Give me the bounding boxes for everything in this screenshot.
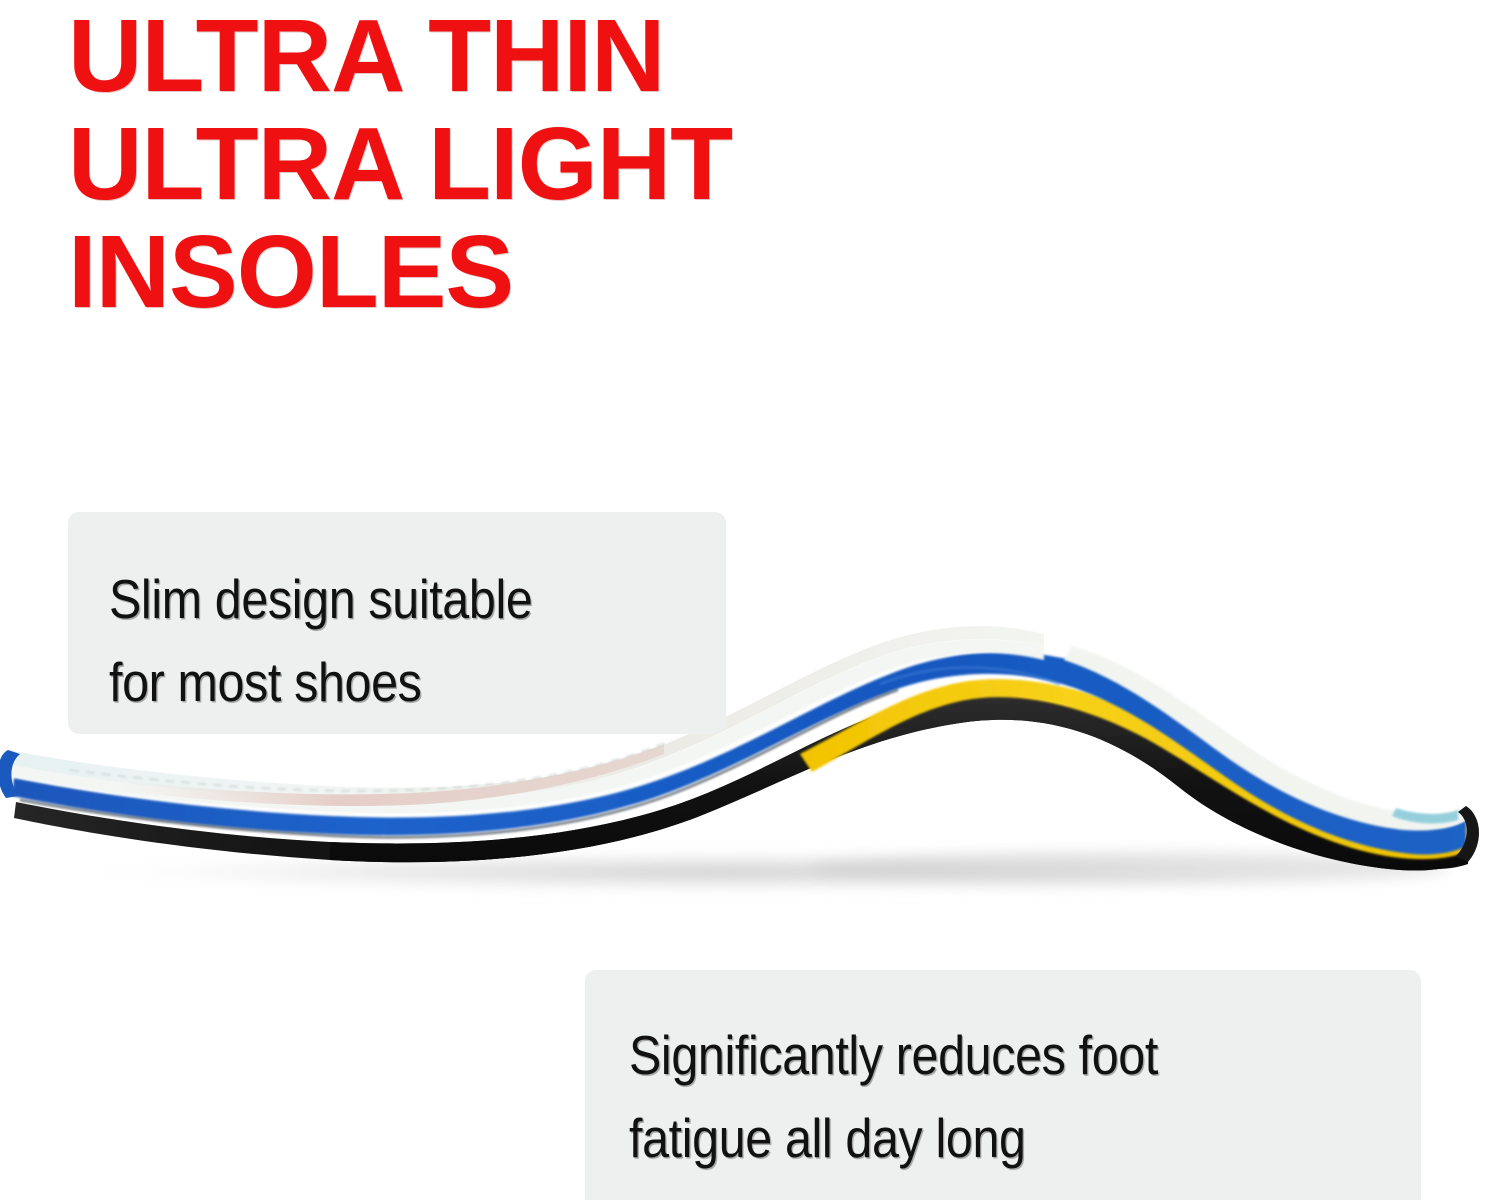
callout-slim-design: Slim design suitable for most shoes: [68, 512, 726, 734]
callout-slim-line-2: for most shoes: [109, 641, 652, 724]
headline-line-1: ULTRA THIN: [68, 2, 1068, 110]
headline-line-2: ULTRA LIGHT: [68, 110, 1068, 218]
callout-fatigue-line-2: fatigue all day long: [629, 1097, 1326, 1180]
headline-block: ULTRA THIN ULTRA LIGHT INSOLES: [68, 2, 1068, 326]
product-marketing-image: ULTRA THIN ULTRA LIGHT INSOLES: [0, 0, 1500, 1200]
callout-fatigue-line-1: Significantly reduces foot: [629, 1014, 1326, 1097]
callout-slim-line-1: Slim design suitable: [109, 558, 652, 641]
insole-cast-shadow: [20, 852, 1450, 892]
headline-line-3: INSOLES: [68, 218, 1068, 326]
callout-reduces-fatigue: Significantly reduces foot fatigue all d…: [585, 970, 1421, 1200]
insole-top-fabric-accent: [118, 744, 664, 806]
